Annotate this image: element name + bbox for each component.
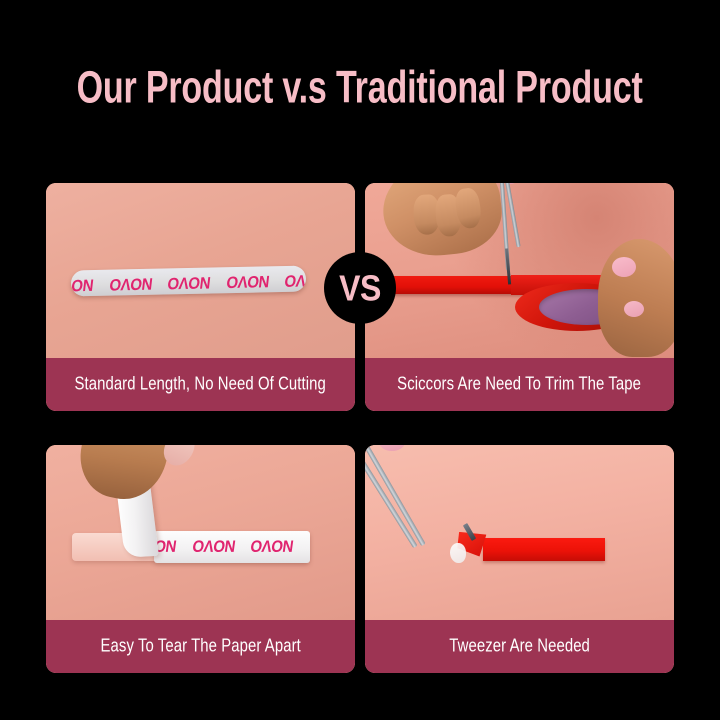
photo-scissors-cutting-tape [365, 183, 674, 358]
novo-brand-text: NOVO [167, 272, 212, 292]
novo-brand-text: NOVO [308, 536, 310, 555]
novo-brand-text: NOVO [71, 275, 95, 295]
novo-brand-text: NOVO [108, 273, 153, 293]
card-traditional-product-2[interactable]: Tweezer Are Needed [365, 445, 674, 673]
caption-text: Standard Length, No Need Of Cutting [75, 374, 326, 395]
caption-bar: Tweezer Are Needed [365, 620, 674, 673]
photo-standard-length-strip: NOVO NOVO NOVO NOVO NOVO [46, 183, 355, 358]
photo-background [365, 445, 674, 620]
caption-bar: Standard Length, No Need Of Cutting [46, 358, 355, 411]
vs-label: VS [339, 267, 381, 308]
comparison-infographic: Our Product v.s Traditional Product NOVO… [0, 0, 720, 720]
novo-liner-paper: NOVO NOVO NOVO NOVO [154, 531, 310, 563]
caption-text: Sciccors Are Need To Trim The Tape [398, 374, 642, 395]
caption-text: Tweezer Are Needed [449, 636, 590, 657]
caption-bar: Sciccors Are Need To Trim The Tape [365, 358, 674, 411]
vs-divider-bar [356, 169, 364, 687]
novo-brand-text: NOVO [284, 270, 306, 290]
novo-adhesive-strip: NOVO NOVO NOVO NOVO NOVO [71, 266, 306, 297]
fingernail [624, 301, 644, 317]
photo-tweezers-lifting-tape [365, 445, 674, 620]
card-traditional-product-1[interactable]: Sciccors Are Need To Trim The Tape [365, 183, 674, 411]
right-hand [598, 239, 674, 357]
card-our-product-1[interactable]: NOVO NOVO NOVO NOVO NOVO Standard Length… [46, 183, 355, 411]
novo-brand-text: NOVO [191, 536, 236, 555]
caption-bar: Easy To Tear The Paper Apart [46, 620, 355, 673]
card-our-product-2[interactable]: NOVO NOVO NOVO NOVO Easy To Tear The Pap… [46, 445, 355, 673]
page-title: Our Product v.s Traditional Product [77, 62, 643, 113]
red-tape-strip [483, 538, 605, 561]
vs-badge: VS [324, 252, 396, 324]
photo-peeling-liner: NOVO NOVO NOVO NOVO [46, 445, 355, 620]
adhesive-residue [450, 543, 466, 563]
comparison-grid: NOVO NOVO NOVO NOVO NOVO Standard Length… [46, 183, 674, 673]
novo-brand-row: NOVO NOVO NOVO NOVO NOVO [71, 266, 306, 297]
header: Our Product v.s Traditional Product [0, 0, 720, 175]
novo-brand-text: NOVO [226, 271, 271, 291]
novo-brand-text: NOVO [250, 536, 295, 555]
novo-brand-row: NOVO NOVO NOVO NOVO [154, 531, 310, 563]
caption-text: Easy To Tear The Paper Apart [100, 636, 300, 657]
fingernail [612, 257, 636, 277]
